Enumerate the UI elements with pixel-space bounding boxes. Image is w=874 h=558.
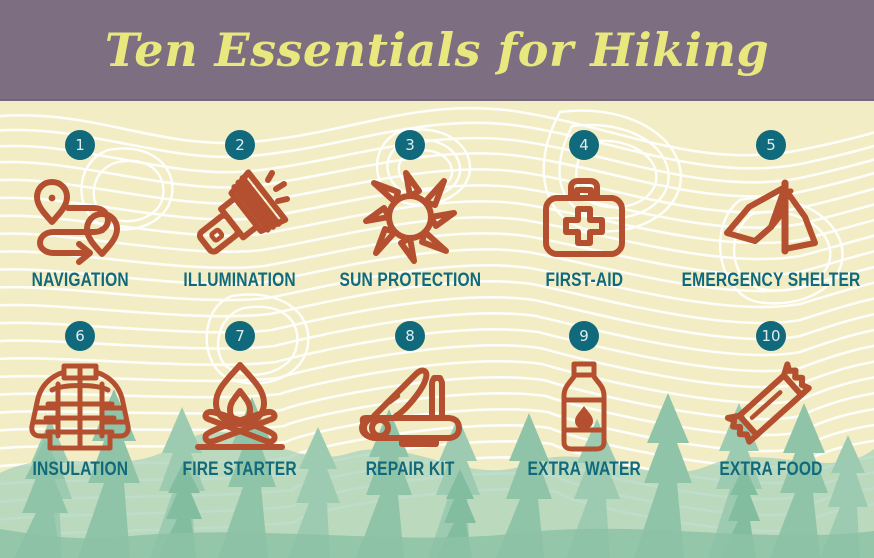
campfire-icon	[184, 360, 296, 452]
essential-label: Insulation	[32, 459, 128, 481]
essential-label: Illumination	[184, 270, 296, 292]
essential-label: Emergency Shelter	[682, 270, 861, 292]
sun-icon	[354, 171, 466, 263]
essential-item-first-aid[interactable]: 4 First-Aid	[500, 101, 668, 297]
water-bottle-icon	[528, 360, 640, 452]
header-band: Ten Essentials for Hiking	[0, 0, 874, 101]
essential-item-repair-kit[interactable]: 8 Repair K	[320, 297, 500, 493]
essential-item-sun-protection[interactable]: 3 Sun Protection	[320, 101, 500, 297]
item-number-badge: 9	[569, 321, 599, 351]
puffy-jacket-icon	[24, 360, 136, 452]
item-number-badge: 3	[395, 130, 425, 160]
item-number-badge: 10	[756, 321, 786, 351]
essential-item-insulation[interactable]: 6	[0, 297, 160, 493]
item-number-badge: 5	[756, 130, 786, 160]
tent-icon	[715, 171, 827, 263]
infographic-poster: Ten Essentials for Hiking 1 Navigation	[0, 0, 874, 558]
essential-label: Repair Kit	[366, 459, 455, 481]
flashlight-icon	[184, 171, 296, 263]
item-number-badge: 7	[225, 321, 255, 351]
item-number-badge: 6	[65, 321, 95, 351]
energy-bar-icon	[715, 360, 827, 452]
essential-label: Sun Protection	[339, 270, 481, 292]
essential-item-extra-food[interactable]: 10 Extra Food	[668, 297, 874, 493]
page-title: Ten Essentials for Hiking	[105, 23, 769, 77]
essentials-grid: 1 Navigation 2	[0, 101, 874, 558]
essential-item-emergency-shelter[interactable]: 5 Emergency Shelter	[668, 101, 874, 297]
item-number-badge: 1	[65, 130, 95, 160]
essential-label: Fire Starter	[183, 459, 297, 481]
essential-label: Extra Food	[719, 459, 822, 481]
item-number-badge: 4	[569, 130, 599, 160]
item-number-badge: 8	[395, 321, 425, 351]
essential-label: Extra Water	[527, 459, 640, 481]
essential-item-illumination[interactable]: 2 Illumination	[160, 101, 320, 297]
essential-label: First-Aid	[545, 270, 623, 292]
essential-label: Navigation	[31, 270, 128, 292]
route-map-pins-icon	[24, 171, 136, 263]
item-number-badge: 2	[225, 130, 255, 160]
essential-item-extra-water[interactable]: 9 Extra Water	[500, 297, 668, 493]
essential-item-fire-starter[interactable]: 7 Fire Starter	[160, 297, 320, 493]
pocket-knife-icon	[354, 360, 466, 452]
first-aid-kit-icon	[528, 171, 640, 263]
essential-item-navigation[interactable]: 1 Navigation	[0, 101, 160, 297]
